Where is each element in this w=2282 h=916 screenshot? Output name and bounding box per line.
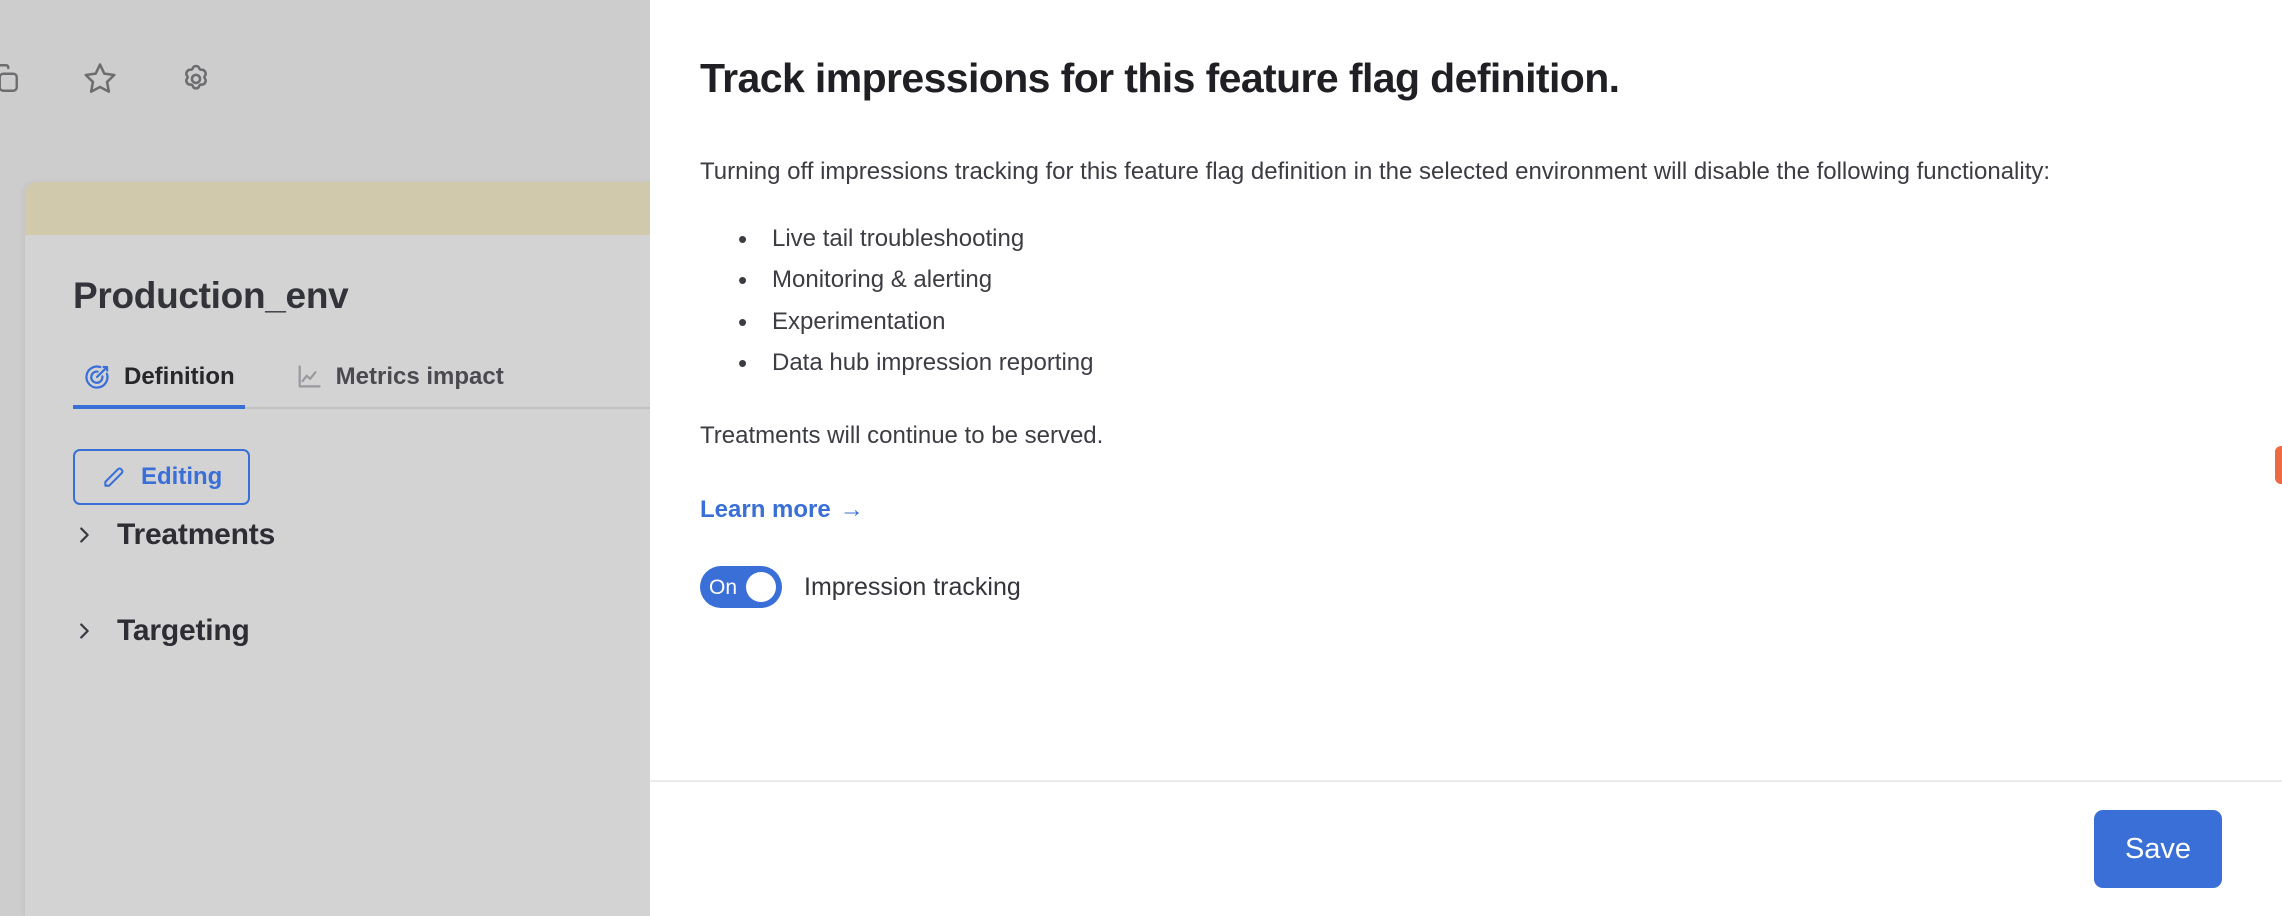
tab-label: Definition [124,363,235,391]
section-label: Targeting [117,614,250,648]
line-chart-icon [295,363,323,391]
list-item: Data hub impression reporting [734,342,2226,383]
editing-button-label: Editing [141,463,222,491]
disabled-features-list: Live tail troubleshooting Monitoring & a… [734,218,2226,383]
list-item: Live tail troubleshooting [734,218,2226,259]
section-targeting[interactable]: Targeting [73,601,650,661]
tab-label: Metrics impact [336,363,504,391]
arrow-right-icon: → [840,496,864,524]
modal-note-text: Treatments will continue to be served. [700,417,2226,456]
star-icon[interactable] [78,56,122,100]
impression-tracking-modal: Track impressions for this feature flag … [650,0,2282,916]
modal-body: Track impressions for this feature flag … [650,0,2282,780]
list-item: Monitoring & alerting [734,259,2226,300]
modal-footer: Save [650,780,2282,916]
modal-intro-text: Turning off impressions tracking for thi… [700,153,2226,192]
save-button[interactable]: Save [2094,810,2222,888]
card-banner [25,182,650,235]
card-tabs: Definition Metrics impact [73,363,650,409]
list-item: Experimentation [734,301,2226,342]
tab-definition[interactable]: Definition [73,363,245,409]
section-treatments[interactable]: Treatments [73,505,650,565]
learn-more-label: Learn more [700,496,831,524]
target-pencil-icon [83,363,111,391]
pencil-icon [101,464,127,490]
app-screen: Production_env Definition [0,0,2282,916]
tab-metrics-impact[interactable]: Metrics impact [285,363,514,409]
chevron-right-icon [73,620,95,642]
learn-more-link[interactable]: Learn more → [700,496,864,524]
page-title: Production_env [73,275,650,317]
copy-icon[interactable] [0,56,26,100]
editing-button[interactable]: Editing [73,449,250,505]
edge-launcher-tab[interactable] [2275,446,2282,484]
flag-toolbar [0,0,650,155]
toggle-state-label: On [709,577,737,598]
impression-tracking-label: Impression tracking [804,573,1021,602]
section-label: Treatments [117,518,275,552]
gear-icon[interactable] [174,56,218,100]
impression-tracking-row: On Impression tracking [700,566,2226,608]
feature-flag-card: Production_env Definition [25,182,650,916]
modal-title: Track impressions for this feature flag … [700,54,2226,103]
toggle-knob [746,572,776,602]
chevron-right-icon [73,524,95,546]
impression-tracking-toggle[interactable]: On [700,566,782,608]
